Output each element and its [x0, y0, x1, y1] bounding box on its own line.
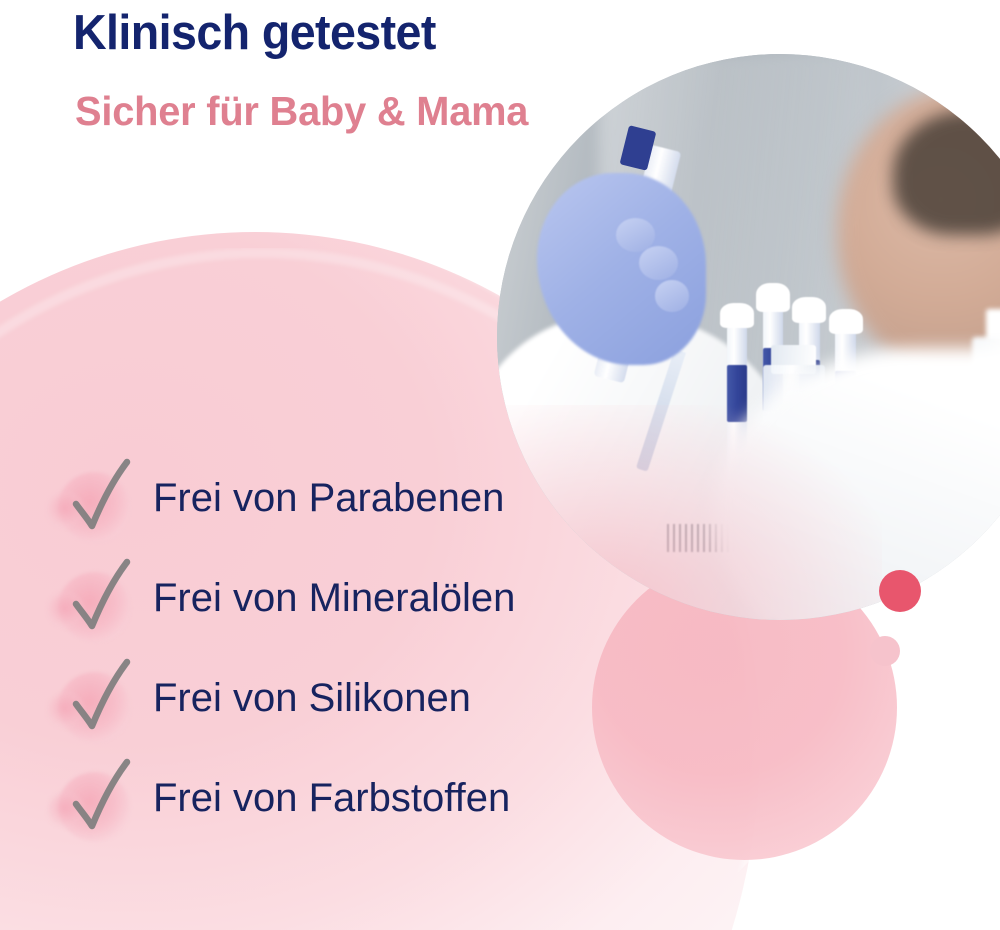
- benefit-list: Frei von Parabenen Frei von Mineralölen …: [40, 452, 660, 852]
- list-item: Frei von Mineralölen: [40, 552, 660, 652]
- pink-dot-icon: [870, 636, 900, 666]
- page-title: Klinisch getestet: [73, 5, 436, 61]
- checkmark-icon: [48, 452, 156, 552]
- list-item: Frei von Farbstoffen: [40, 752, 660, 852]
- check-stroke-icon: [48, 642, 156, 752]
- checkmark-icon: [48, 652, 156, 752]
- checkmark-icon: [48, 552, 156, 652]
- check-stroke-icon: [48, 442, 156, 552]
- pipette-knob: [720, 303, 754, 328]
- check-stroke-icon: [48, 742, 156, 852]
- list-item: Frei von Silikonen: [40, 652, 660, 752]
- list-item-label: Frei von Parabenen: [153, 476, 504, 521]
- rose-dot-icon: [879, 570, 921, 612]
- pipette-knob: [792, 297, 826, 322]
- list-item-label: Frei von Farbstoffen: [153, 776, 510, 821]
- check-stroke-icon: [48, 542, 156, 652]
- list-item-label: Frei von Silikonen: [153, 676, 471, 721]
- pipette-knob: [829, 309, 863, 334]
- checkmark-icon: [48, 752, 156, 852]
- pipette-knob: [756, 283, 790, 311]
- page-subtitle: Sicher für Baby & Mama: [75, 88, 528, 135]
- glove-finger: [655, 280, 689, 311]
- list-item-label: Frei von Mineralölen: [153, 576, 515, 621]
- list-item: Frei von Parabenen: [40, 452, 660, 552]
- promo-banner: sanosan Klinisch getestet Sicher für Bab…: [0, 0, 1000, 930]
